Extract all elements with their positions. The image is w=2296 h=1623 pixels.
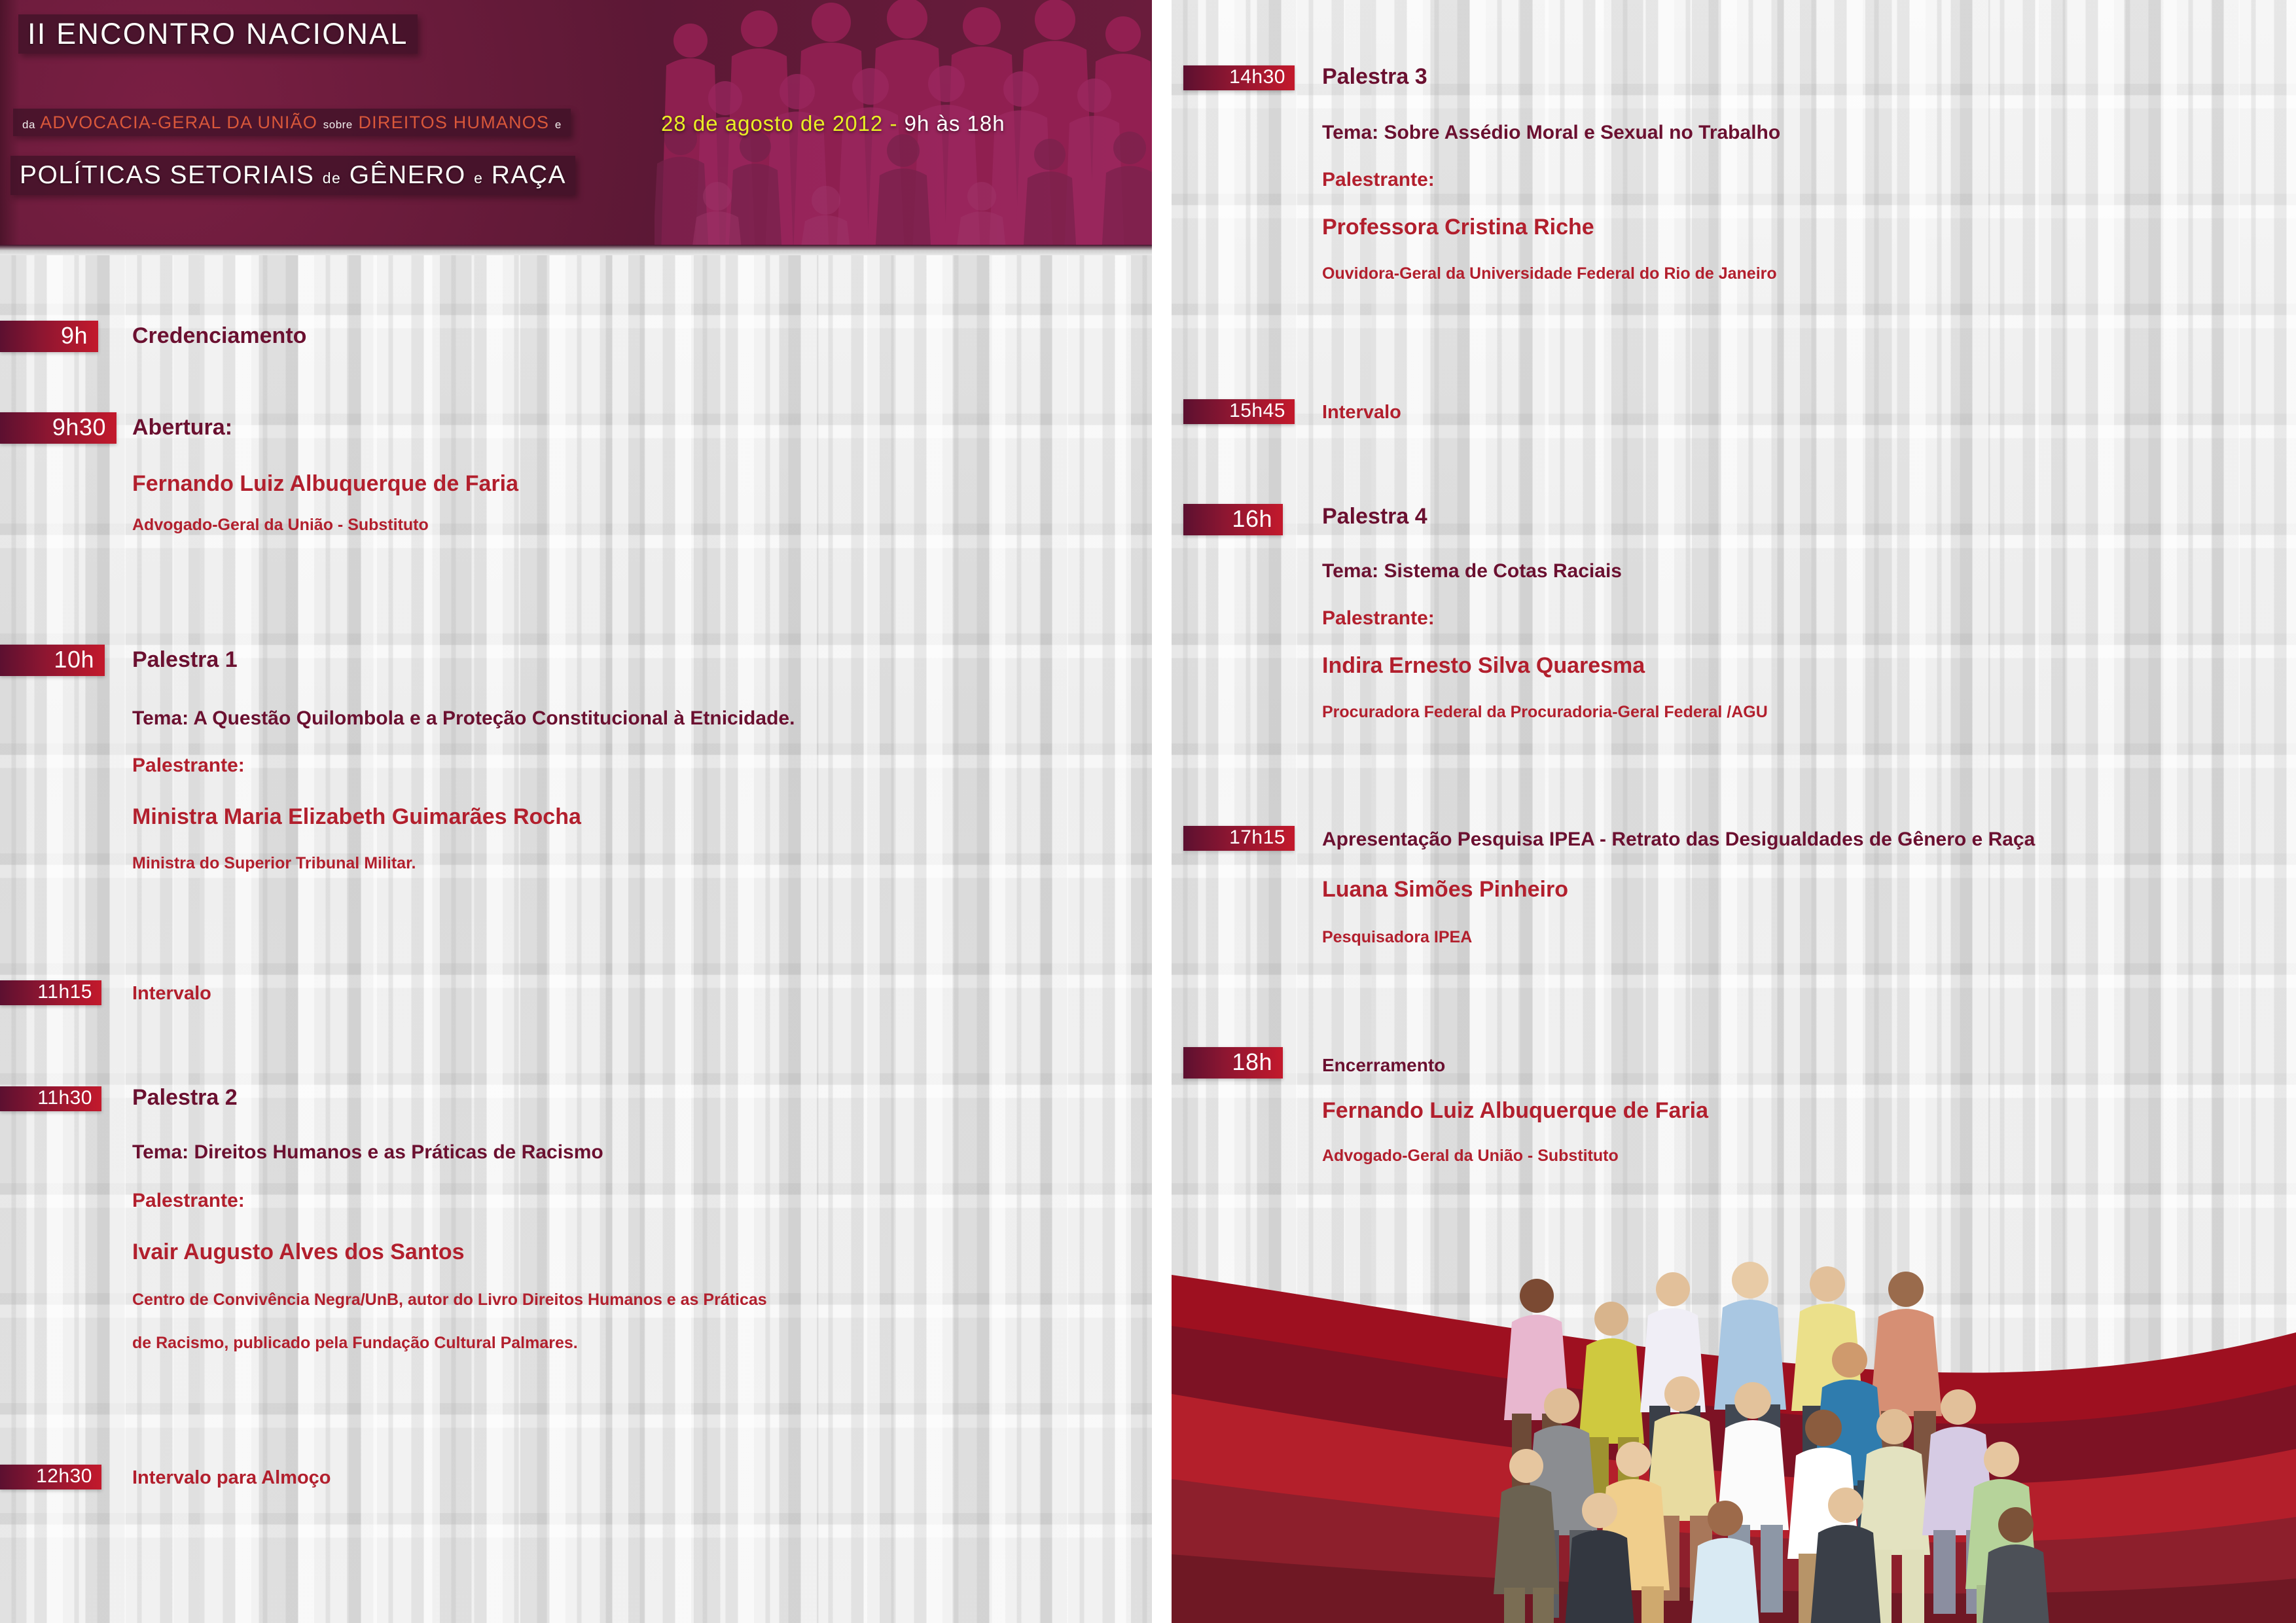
subtitle-direitos-humanos: DIREITOS HUMANOS: [358, 113, 549, 132]
event-hours-text: 9h às 18h: [905, 111, 1005, 135]
time-badge: 14h30: [1183, 65, 1295, 90]
time-badge-label: 16h: [1232, 505, 1272, 533]
event-banner: II ENCONTRO NACIONAL da ADVOCACIA-GERAL …: [0, 0, 1152, 255]
program-poster: II ENCONTRO NACIONAL da ADVOCACIA-GERAL …: [0, 0, 2296, 1623]
speaker-name: Ivair Augusto Alves dos Santos: [132, 1240, 465, 1265]
event-subtitle: da ADVOCACIA-GERAL DA UNIÃO sobre DIREIT…: [22, 113, 562, 133]
title3-de: de: [323, 169, 342, 187]
session-title: Credenciamento: [132, 323, 306, 349]
session-topic: Tema: Sobre Assédio Moral e Sexual no Tr…: [1322, 122, 1780, 144]
event-date: 28 de agosto de 2012 - 9h às 18h: [661, 111, 1005, 136]
time-badge-label: 17h15: [1229, 827, 1285, 849]
time-badge: 11h30: [0, 1086, 101, 1111]
speaker-role: Centro de Convivência Negra/UnB, autor d…: [132, 1291, 767, 1310]
title3-raca: RAÇA: [492, 161, 566, 189]
banner-bottom-edge: [0, 245, 1152, 255]
speaker-role-line2: de Racismo, publicado pela Fundação Cult…: [132, 1334, 578, 1353]
speaker-role: Pesquisadora IPEA: [1322, 928, 1472, 947]
event-date-text: 28 de agosto de 2012 -: [661, 111, 905, 135]
speaker-role: Ouvidora-Geral da Universidade Federal d…: [1322, 264, 1777, 283]
time-badge-label: 18h: [1232, 1048, 1272, 1076]
session-title: Palestra 1: [132, 647, 238, 673]
event-title: II ENCONTRO NACIONAL: [27, 17, 408, 51]
speaker-label: Palestrante:: [132, 1190, 245, 1212]
title3-e: e: [474, 169, 483, 187]
event-title-line3: POLÍTICAS SETORIAIS de GÊNERO e RAÇA: [20, 161, 566, 190]
subtitle-word-e: e: [555, 118, 562, 131]
session-title: Intervalo: [132, 983, 211, 1005]
session-title: Encerramento: [1322, 1055, 1445, 1076]
speaker-role: Ministra do Superior Tribunal Militar.: [132, 854, 416, 873]
session-topic: Tema: A Questão Quilombola e a Proteção …: [132, 707, 795, 730]
speaker-name: Fernando Luiz Albuquerque de Faria: [132, 471, 518, 497]
speaker-label: Palestrante:: [132, 755, 245, 777]
time-badge-label: 14h30: [1229, 66, 1285, 88]
speaker-name: Professora Cristina Riche: [1322, 215, 1594, 240]
session-title: Intervalo para Almoço: [132, 1467, 331, 1489]
speaker-name: Indira Ernesto Silva Quaresma: [1322, 653, 1645, 679]
time-badge-label: 12h30: [36, 1465, 92, 1488]
speaker-role: Advogado-Geral da União - Substituto: [132, 516, 429, 535]
time-badge-label: 11h15: [37, 981, 92, 1003]
subtitle-word-da: da: [22, 118, 35, 131]
speaker-name: Ministra Maria Elizabeth Guimarães Rocha: [132, 804, 581, 830]
session-title: Palestra 3: [1322, 64, 1427, 90]
time-badge: 10h: [0, 645, 105, 676]
time-badge: 9h: [0, 321, 98, 352]
session-title: Intervalo: [1322, 402, 1401, 423]
title3-genero: GÊNERO: [350, 161, 466, 189]
session-title: Palestra 2: [132, 1085, 238, 1111]
time-badge: 11h15: [0, 980, 101, 1005]
banner-title-box-2: da ADVOCACIA-GERAL DA UNIÃO sobre DIREIT…: [13, 109, 571, 136]
subtitle-agu: ADVOCACIA-GERAL DA UNIÃO: [40, 113, 317, 132]
subtitle-word-sobre: sobre: [323, 118, 353, 131]
time-badge: 17h15: [1183, 826, 1295, 851]
speaker-role: Advogado-Geral da União - Substituto: [1322, 1147, 1619, 1166]
speaker-role: Procuradora Federal da Procuradoria-Gera…: [1322, 703, 1768, 722]
time-badge-label: 9h30: [52, 414, 106, 441]
session-topic: Tema: Direitos Humanos e as Práticas de …: [132, 1141, 603, 1164]
time-badge: 18h: [1183, 1047, 1283, 1079]
session-topic: Tema: Sistema de Cotas Raciais: [1322, 560, 1622, 582]
title3-politicas: POLÍTICAS SETORIAIS: [20, 161, 314, 189]
speaker-label: Palestrante:: [1322, 169, 1435, 191]
banner-title-box-3: POLÍTICAS SETORIAIS de GÊNERO e RAÇA: [10, 156, 575, 195]
speaker-name: Luana Simões Pinheiro: [1322, 877, 1568, 902]
time-badge: 15h45: [1183, 399, 1295, 424]
right-panel: 14h30 Palestra 3 Tema: Sobre Assédio Mor…: [1172, 0, 2296, 1623]
time-badge: 16h: [1183, 504, 1283, 535]
session-title: Palestra 4: [1322, 504, 1427, 529]
footer-crowd-illustration: [1172, 1198, 2296, 1623]
speaker-name: Fernando Luiz Albuquerque de Faria: [1322, 1098, 1708, 1124]
time-badge-label: 10h: [54, 646, 94, 673]
left-panel: II ENCONTRO NACIONAL da ADVOCACIA-GERAL …: [0, 0, 1152, 1623]
session-title: Apresentação Pesquisa IPEA - Retrato das…: [1322, 829, 2035, 851]
time-badge-label: 9h: [61, 322, 88, 349]
column-gutter: [1152, 0, 1172, 1623]
banner-title-box-1: II ENCONTRO NACIONAL: [18, 14, 418, 54]
time-badge-label: 15h45: [1229, 400, 1285, 422]
session-title: Abertura:: [132, 415, 232, 440]
time-badge: 9h30: [0, 412, 117, 444]
time-badge-label: 11h30: [37, 1087, 92, 1109]
speaker-label: Palestrante:: [1322, 607, 1435, 630]
time-badge: 12h30: [0, 1465, 101, 1489]
